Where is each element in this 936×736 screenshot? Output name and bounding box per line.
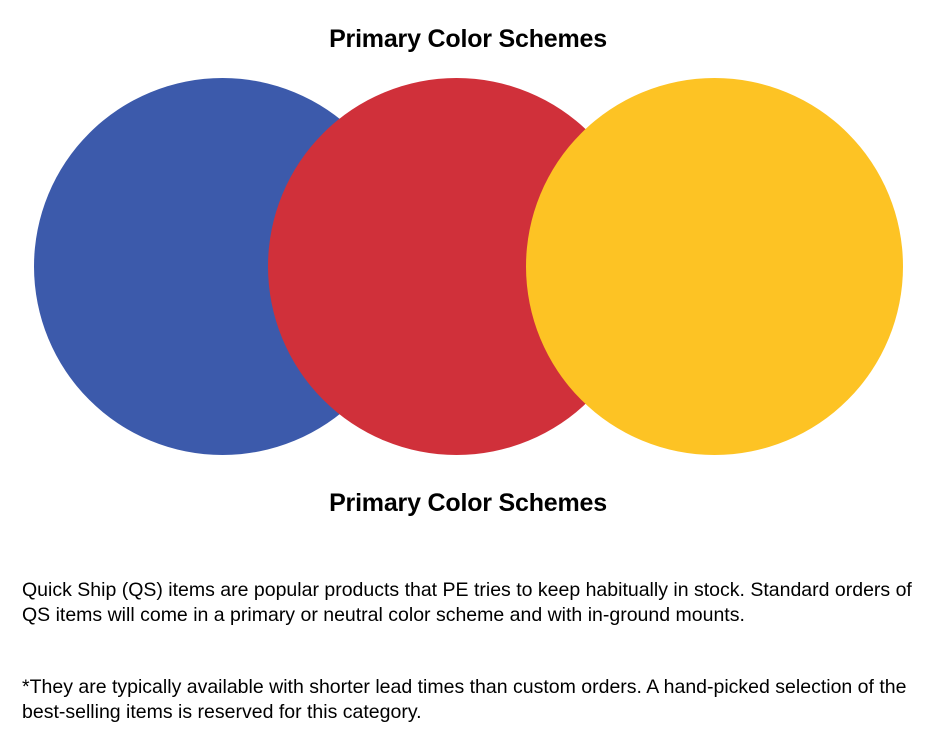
page-title-bottom: Primary Color Schemes [0, 490, 936, 518]
body-paragraph-lead-times: *They are typically available with short… [22, 675, 912, 725]
body-paragraph-quick-ship: Quick Ship (QS) items are popular produc… [22, 578, 912, 628]
yellow-circle [526, 78, 903, 455]
slide-canvas: Primary Color Schemes Primary Color Sche… [0, 0, 936, 736]
primary-color-venn-diagram [0, 0, 936, 480]
